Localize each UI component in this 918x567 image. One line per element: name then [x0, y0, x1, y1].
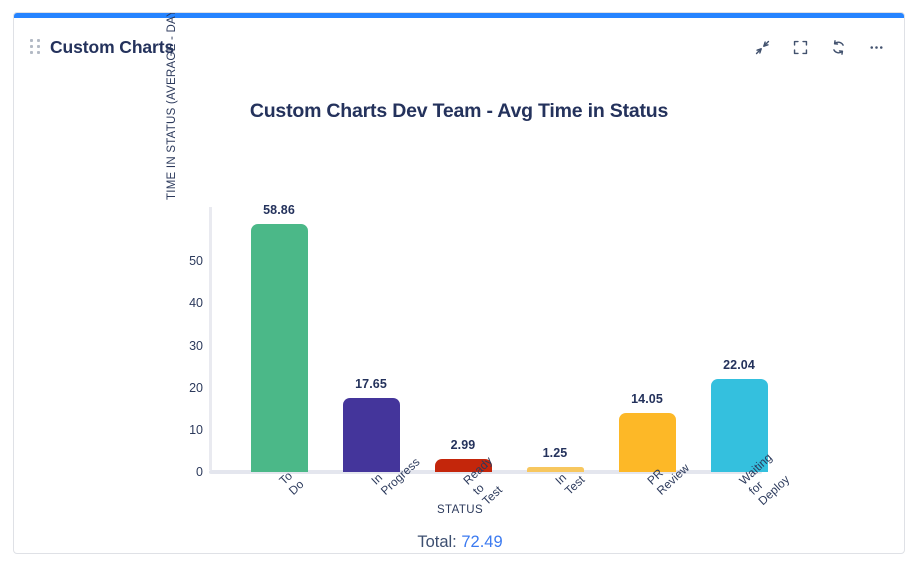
y-tick-label: 0 [169, 466, 203, 479]
bar-value-label: 22.04 [723, 358, 755, 372]
refresh-icon[interactable] [828, 37, 848, 57]
custom-charts-gadget: Custom Charts [13, 12, 905, 554]
y-tick-label: 10 [169, 424, 203, 437]
bar-value-label: 58.86 [263, 203, 295, 217]
total-label: Total: [417, 533, 456, 551]
bar[interactable] [251, 224, 308, 472]
screenshot-root: Custom Charts [0, 0, 918, 567]
bar-value-label: 1.25 [543, 446, 568, 460]
x-axis-title: STATUS [14, 504, 905, 516]
bar-value-label: 14.05 [631, 392, 663, 406]
y-tick-label: 20 [169, 382, 203, 395]
y-axis-line [209, 207, 212, 470]
gadget-title: Custom Charts [50, 37, 174, 58]
bar-item[interactable]: 1.25In Test [527, 467, 584, 472]
bar-item[interactable]: 58.86To Do [251, 224, 308, 472]
chart-total: Total: 72.49 [14, 533, 905, 552]
chart-plot-area: TIME IN STATUS (AVERAGE - DAYS) 01020304… [14, 76, 905, 554]
maximize-icon[interactable] [790, 37, 810, 57]
bar-item[interactable]: 22.04Waiting for Deploy [711, 379, 768, 472]
more-icon[interactable] [866, 37, 886, 57]
gadget-header-actions [752, 37, 886, 57]
y-tick-label: 30 [169, 340, 203, 353]
bar-item[interactable]: 17.65In Progress [343, 398, 400, 472]
drag-dots-icon[interactable] [28, 37, 42, 57]
chart-container: Custom Charts Dev Team - Avg Time in Sta… [14, 76, 904, 554]
collapse-icon[interactable] [752, 37, 772, 57]
total-value: 72.49 [461, 533, 502, 551]
bar-value-label: 2.99 [451, 438, 476, 452]
gadget-header: Custom Charts [14, 18, 904, 76]
y-tick-label: 50 [169, 255, 203, 268]
bar-value-label: 17.65 [355, 377, 387, 391]
bar-item[interactable]: 14.05PR Review [619, 413, 676, 472]
y-tick-label: 40 [169, 297, 203, 310]
x-tick-label: In Test [553, 459, 593, 499]
bar-item[interactable]: 2.99Ready to Test [435, 459, 492, 472]
y-axis-title: TIME IN STATUS (AVERAGE - DAYS) [166, 12, 178, 226]
